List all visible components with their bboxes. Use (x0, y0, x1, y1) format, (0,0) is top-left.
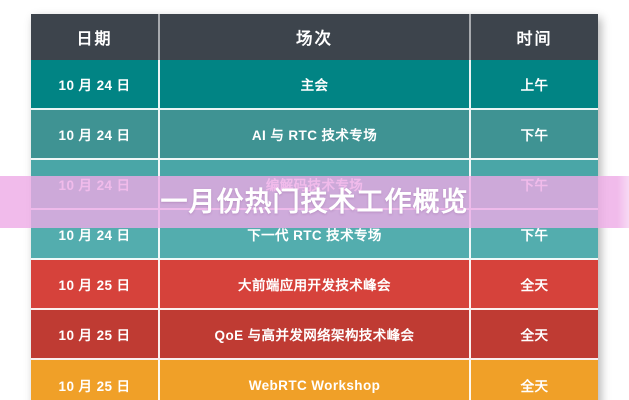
column-header-session: 场次 (160, 14, 471, 60)
conference-schedule-table: 日期 场次 时间 10 月 24 日 主会 上午 10 月 24 日 AI 与 … (31, 14, 598, 400)
table-body: 10 月 24 日 主会 上午 10 月 24 日 AI 与 RTC 技术专场 … (31, 60, 598, 400)
table-row: 10 月 25 日 QoE 与高并发网络架构技术峰会 全天 (31, 310, 598, 360)
cell-session: 大前端应用开发技术峰会 (160, 260, 471, 310)
table-row: 10 月 25 日 大前端应用开发技术峰会 全天 (31, 260, 598, 310)
cell-date: 10 月 25 日 (31, 260, 160, 310)
table-row: 10 月 24 日 主会 上午 (31, 60, 598, 110)
table-header: 日期 场次 时间 (31, 14, 598, 60)
cell-session: 下一代 RTC 技术专场 (160, 210, 471, 260)
table-row: 10 月 24 日 AI 与 RTC 技术专场 下午 (31, 110, 598, 160)
cell-session: AI 与 RTC 技术专场 (160, 110, 471, 160)
screenshot-canvas: 日期 场次 时间 10 月 24 日 主会 上午 10 月 24 日 AI 与 … (0, 0, 629, 400)
cell-date: 10 月 24 日 (31, 160, 160, 210)
cell-time: 全天 (471, 360, 598, 400)
cell-session: QoE 与高并发网络架构技术峰会 (160, 310, 471, 360)
cell-date: 10 月 24 日 (31, 110, 160, 160)
cell-date: 10 月 24 日 (31, 210, 160, 260)
cell-date: 10 月 25 日 (31, 360, 160, 400)
cell-session: WebRTC Workshop (160, 360, 471, 400)
cell-time: 上午 (471, 60, 598, 110)
table-row: 10 月 24 日 编解码技术专场 下午 (31, 160, 598, 210)
cell-time: 全天 (471, 310, 598, 360)
column-header-time: 时间 (471, 14, 598, 60)
table-row: 10 月 24 日 下一代 RTC 技术专场 下午 (31, 210, 598, 260)
cell-session: 编解码技术专场 (160, 160, 471, 210)
table-header-row: 日期 场次 时间 (31, 14, 598, 60)
right-edge-vignette (603, 0, 629, 400)
cell-date: 10 月 25 日 (31, 310, 160, 360)
cell-time: 下午 (471, 110, 598, 160)
cell-session: 主会 (160, 60, 471, 110)
cell-time: 全天 (471, 260, 598, 310)
cell-time: 下午 (471, 210, 598, 260)
cell-time: 下午 (471, 160, 598, 210)
column-header-date: 日期 (31, 14, 160, 60)
cell-date: 10 月 24 日 (31, 60, 160, 110)
table-row: 10 月 25 日 WebRTC Workshop 全天 (31, 360, 598, 400)
